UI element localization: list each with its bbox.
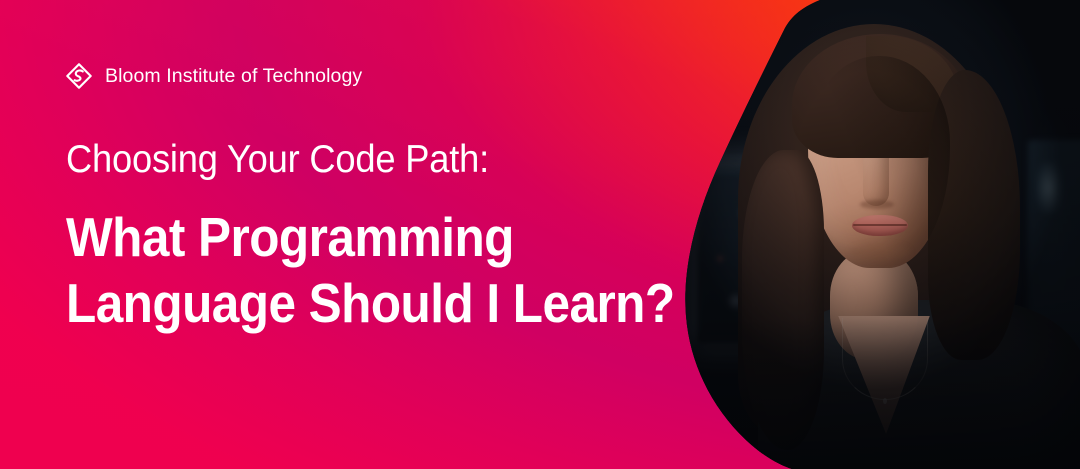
brand-logo[interactable]: Bloom Institute of Technology: [66, 63, 362, 89]
page-title: What Programming Language Should I Learn…: [66, 204, 675, 336]
banner-content: Bloom Institute of Technology Choosing Y…: [66, 0, 766, 469]
bloom-hexagon-s-mark-icon: [66, 63, 92, 89]
marketing-banner: Bloom Institute of Technology Choosing Y…: [0, 0, 1080, 469]
headline-line-1: What Programming: [66, 204, 675, 270]
headline-line-2: Language Should I Learn?: [66, 270, 675, 336]
eyebrow-text: Choosing Your Code Path:: [66, 138, 489, 182]
brand-name: Bloom Institute of Technology: [105, 65, 362, 88]
